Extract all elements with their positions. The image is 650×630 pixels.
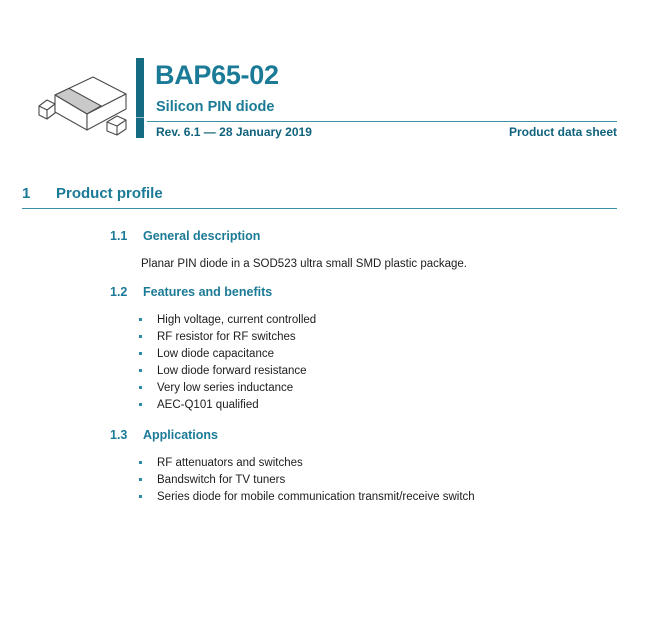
list-item-label: High voltage, current controlled	[157, 314, 316, 326]
list-item: Bandswitch for TV tuners	[0, 472, 650, 489]
list-item: Low diode forward resistance	[0, 363, 650, 380]
datasheet-page: BAP65-02 Silicon PIN diode Rev. 6.1 — 28…	[0, 0, 650, 630]
bullet-square-icon	[139, 495, 142, 498]
subsection-features-and-benefits: 1.2 Features and benefits High voltage, …	[0, 286, 650, 414]
title-block: BAP65-02 Silicon PIN diode Rev. 6.1 — 28…	[136, 55, 636, 150]
bullet-square-icon	[139, 403, 142, 406]
subsection-applications: 1.3 Applications RF attenuators and swit…	[0, 429, 650, 506]
list-item-label: Bandswitch for TV tuners	[157, 474, 285, 486]
subsection-title: General description	[143, 230, 260, 243]
section-title: Product profile	[56, 186, 163, 201]
list-item-label: Series diode for mobile communication tr…	[157, 491, 475, 503]
header-divider	[147, 121, 617, 122]
subsection-heading: 1.3 Applications	[0, 429, 650, 448]
general-description-paragraph: Planar PIN diode in a SOD523 ultra small…	[0, 249, 650, 273]
section-number: 1	[22, 186, 30, 201]
subsection-number: 1.3	[110, 429, 127, 442]
applications-list: RF attenuators and switches Bandswitch f…	[0, 448, 650, 506]
list-item-label: RF attenuators and switches	[157, 457, 303, 469]
bullet-square-icon	[139, 335, 142, 338]
section-divider	[22, 208, 617, 209]
bullet-square-icon	[139, 369, 142, 372]
list-item-label: AEC-Q101 qualified	[157, 399, 259, 411]
section-product-profile: 1 Product profile 1.1 General descriptio…	[0, 186, 650, 212]
list-item-label: Low diode forward resistance	[157, 365, 307, 377]
subsection-heading: 1.2 Features and benefits	[0, 286, 650, 305]
bullet-square-icon	[139, 352, 142, 355]
bullet-square-icon	[139, 318, 142, 321]
list-item: RF attenuators and switches	[0, 455, 650, 472]
page-title: BAP65-02	[155, 62, 279, 89]
list-item: Low diode capacitance	[0, 346, 650, 363]
subsection-heading: 1.1 General description	[0, 230, 650, 249]
list-item: Very low series inductance	[0, 380, 650, 397]
bullet-square-icon	[139, 386, 142, 389]
list-item-label: Low diode capacitance	[157, 348, 274, 360]
bullet-square-icon	[139, 461, 142, 464]
list-item: AEC-Q101 qualified	[0, 397, 650, 414]
list-item: Series diode for mobile communication tr…	[0, 489, 650, 506]
document-header: BAP65-02 Silicon PIN diode Rev. 6.1 — 28…	[0, 55, 650, 150]
page-subtitle: Silicon PIN diode	[156, 100, 274, 115]
subsection-list: 1.1 General description Planar PIN diode…	[0, 230, 650, 524]
list-item: RF resistor for RF switches	[0, 329, 650, 346]
list-item: High voltage, current controlled	[0, 312, 650, 329]
document-type-label: Product data sheet	[147, 126, 617, 138]
subsection-title: Applications	[143, 429, 218, 442]
subsection-general-description: 1.1 General description Planar PIN diode…	[0, 230, 650, 273]
features-list: High voltage, current controlled RF resi…	[0, 305, 650, 414]
list-item-label: Very low series inductance	[157, 382, 293, 394]
bullet-square-icon	[139, 478, 142, 481]
subsection-title: Features and benefits	[143, 286, 272, 299]
subsection-number: 1.2	[110, 286, 127, 299]
section-heading: 1 Product profile	[0, 186, 650, 212]
list-item-label: RF resistor for RF switches	[157, 331, 296, 343]
subsection-number: 1.1	[110, 230, 127, 243]
header-accent-bar	[136, 58, 144, 138]
sod523-package-drawing-icon	[33, 73, 133, 141]
